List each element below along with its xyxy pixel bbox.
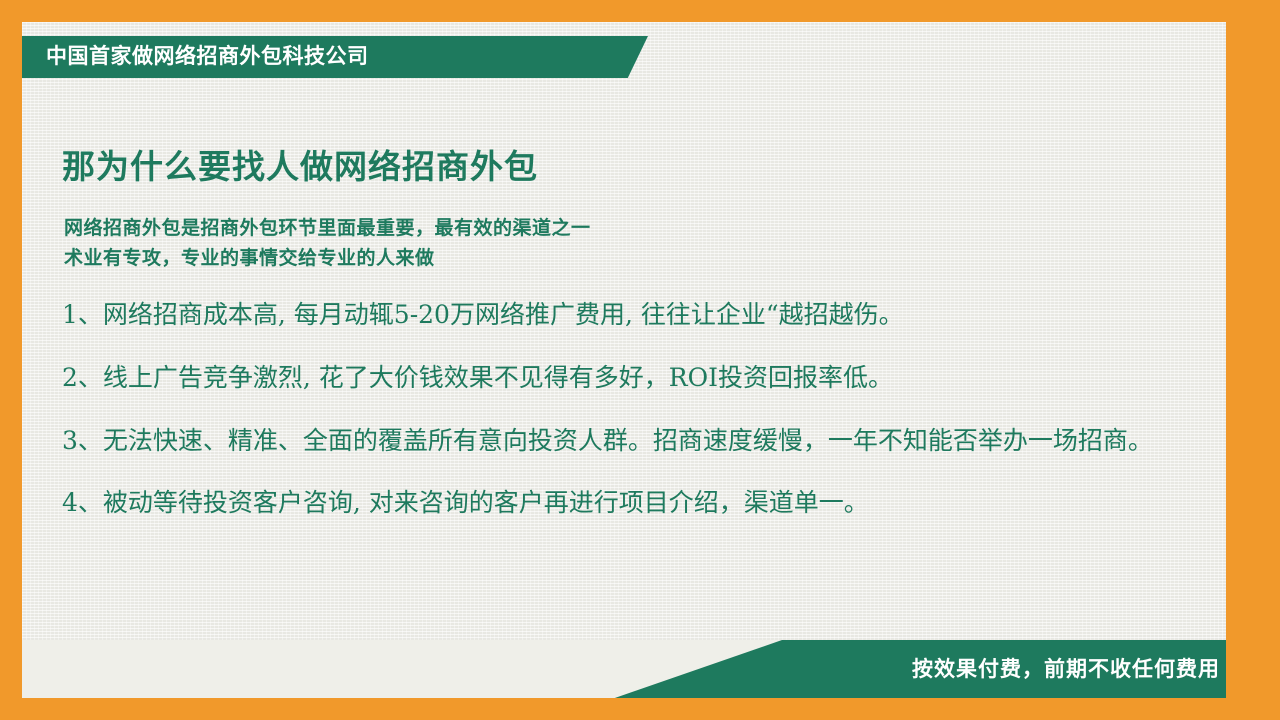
footer-label: 按效果付费，前期不收任何费用	[912, 653, 1220, 683]
list-item: 3、无法快速、精准、全面的覆盖所有意向投资人群。招商速度缓慢，一年不知能否举办一…	[62, 422, 1182, 460]
bullet-list: 1、网络招商成本高, 每月动辄5-20万网络推广费用, 往往让企业“越招越伤。 …	[62, 296, 1182, 547]
list-item: 4、被动等待投资客户咨询, 对来咨询的客户再进行项目介绍，渠道单一。	[62, 484, 1182, 522]
slide-root: 中国首家做网络招商外包科技公司 那为什么要找人做网络招商外包 网络招商外包是招商…	[0, 0, 1280, 720]
list-item: 2、线上广告竞争激烈, 花了大价钱效果不见得有多好，ROI投资回报率低。	[62, 359, 1182, 397]
subtitle-line-1: 网络招商外包是招商外包环节里面最重要，最有效的渠道之一	[64, 213, 591, 240]
subtitle-line-2: 术业有专攻，专业的事情交给专业的人来做	[64, 243, 435, 270]
page-title: 那为什么要找人做网络招商外包	[62, 140, 538, 188]
list-item: 1、网络招商成本高, 每月动辄5-20万网络推广费用, 往往让企业“越招越伤。	[62, 296, 1182, 334]
header-ribbon-label: 中国首家做网络招商外包科技公司	[46, 44, 369, 70]
